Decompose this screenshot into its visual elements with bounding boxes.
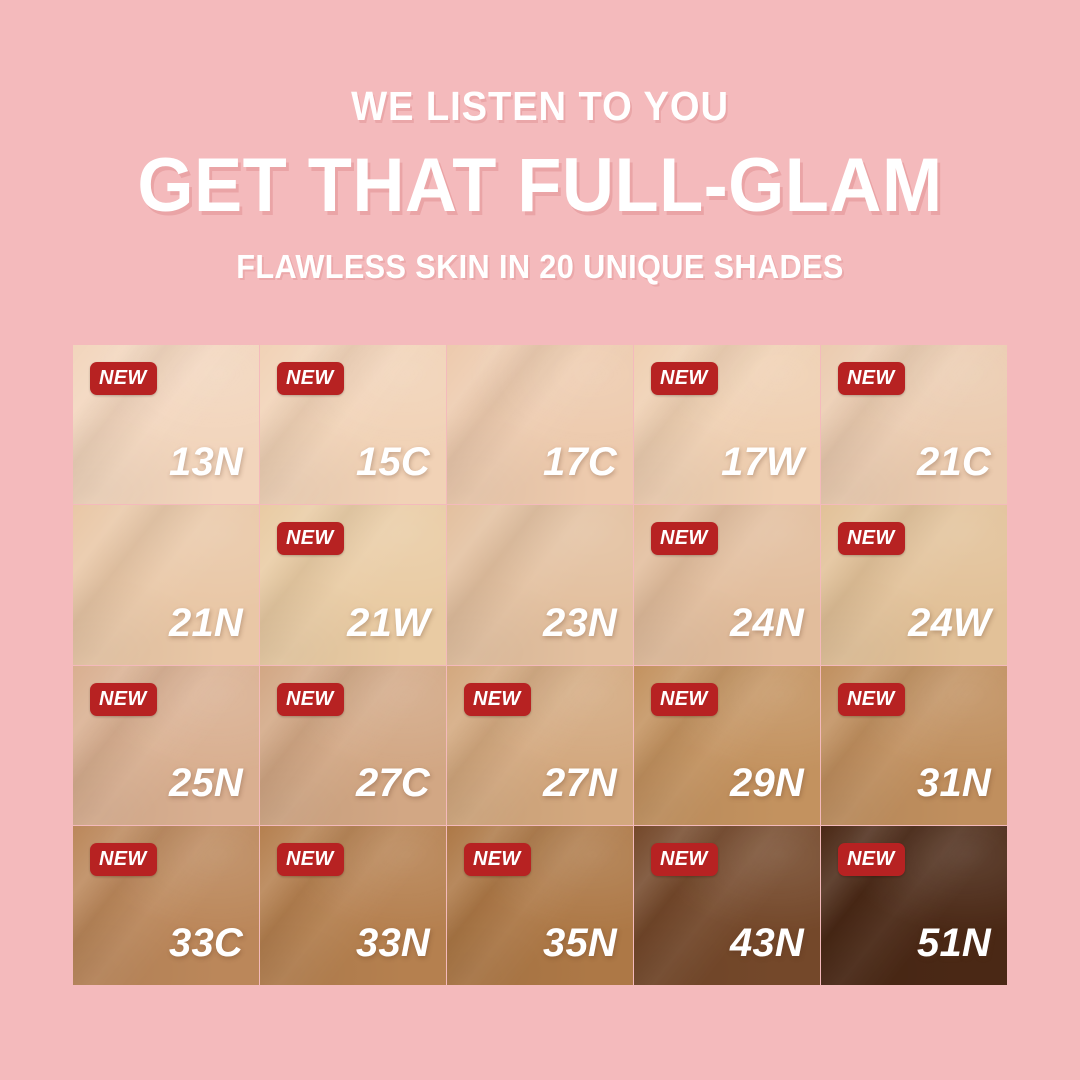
- eyebrow-text: WE LISTEN TO YOU: [38, 86, 1042, 127]
- shade-swatch[interactable]: 17C: [447, 345, 633, 504]
- new-badge: NEW: [464, 683, 531, 716]
- shade-swatch[interactable]: NEW31N: [821, 666, 1007, 825]
- shade-swatch[interactable]: NEW24N: [634, 505, 820, 664]
- new-badge: NEW: [838, 843, 905, 876]
- shade-code-label: 27C: [356, 763, 430, 803]
- shade-grid-container: NEW13NNEW15C17CNEW17WNEW21C21NNEW21W23NN…: [73, 345, 1007, 985]
- shade-swatch[interactable]: NEW33C: [73, 826, 259, 985]
- shade-swatch[interactable]: NEW15C: [260, 345, 446, 504]
- promo-header: WE LISTEN TO YOU GET THAT FULL-GLAM FLAW…: [0, 0, 1080, 283]
- shade-code-label: 13N: [169, 442, 243, 482]
- page-title: GET THAT FULL-GLAM: [27, 148, 1053, 224]
- new-badge: NEW: [651, 522, 718, 555]
- shade-swatch[interactable]: NEW43N: [634, 826, 820, 985]
- new-badge: NEW: [651, 843, 718, 876]
- shade-swatch[interactable]: NEW17W: [634, 345, 820, 504]
- new-badge: NEW: [90, 362, 157, 395]
- shade-code-label: 51N: [917, 923, 991, 963]
- new-badge: NEW: [464, 843, 531, 876]
- shade-swatch[interactable]: NEW13N: [73, 345, 259, 504]
- shade-code-label: 23N: [543, 603, 617, 643]
- shade-code-label: 27N: [543, 763, 617, 803]
- shade-code-label: 25N: [169, 763, 243, 803]
- shade-swatch[interactable]: NEW25N: [73, 666, 259, 825]
- new-badge: NEW: [838, 522, 905, 555]
- shade-code-label: 21W: [347, 603, 430, 643]
- new-badge: NEW: [90, 683, 157, 716]
- shade-swatch[interactable]: NEW21C: [821, 345, 1007, 504]
- shade-code-label: 24W: [908, 603, 991, 643]
- shade-swatch[interactable]: NEW21W: [260, 505, 446, 664]
- new-badge: NEW: [838, 683, 905, 716]
- shade-swatch[interactable]: NEW33N: [260, 826, 446, 985]
- new-badge: NEW: [277, 362, 344, 395]
- shade-swatch[interactable]: NEW35N: [447, 826, 633, 985]
- shade-swatch[interactable]: NEW51N: [821, 826, 1007, 985]
- shade-swatch[interactable]: 23N: [447, 505, 633, 664]
- shade-code-label: 31N: [917, 763, 991, 803]
- new-badge: NEW: [277, 843, 344, 876]
- shade-swatch-grid: NEW13NNEW15C17CNEW17WNEW21C21NNEW21W23NN…: [73, 345, 1007, 985]
- shade-swatch[interactable]: NEW27N: [447, 666, 633, 825]
- new-badge: NEW: [651, 362, 718, 395]
- new-badge: NEW: [277, 522, 344, 555]
- new-badge: NEW: [838, 362, 905, 395]
- shade-code-label: 21C: [917, 442, 991, 482]
- shade-code-label: 29N: [730, 763, 804, 803]
- shade-code-label: 15C: [356, 442, 430, 482]
- shade-code-label: 17C: [543, 442, 617, 482]
- shade-code-label: 17W: [721, 442, 804, 482]
- subheadline-text: FLAWLESS SKIN IN 20 UNIQUE SHADES: [38, 250, 1042, 283]
- shade-code-label: 21N: [169, 603, 243, 643]
- shade-code-label: 24N: [730, 603, 804, 643]
- shade-swatch[interactable]: 21N: [73, 505, 259, 664]
- shade-code-label: 33N: [356, 923, 430, 963]
- shade-swatch[interactable]: NEW27C: [260, 666, 446, 825]
- shade-code-label: 35N: [543, 923, 617, 963]
- shade-code-label: 33C: [169, 923, 243, 963]
- shade-swatch[interactable]: NEW24W: [821, 505, 1007, 664]
- shade-code-label: 43N: [730, 923, 804, 963]
- new-badge: NEW: [651, 683, 718, 716]
- new-badge: NEW: [277, 683, 344, 716]
- new-badge: NEW: [90, 843, 157, 876]
- shade-swatch[interactable]: NEW29N: [634, 666, 820, 825]
